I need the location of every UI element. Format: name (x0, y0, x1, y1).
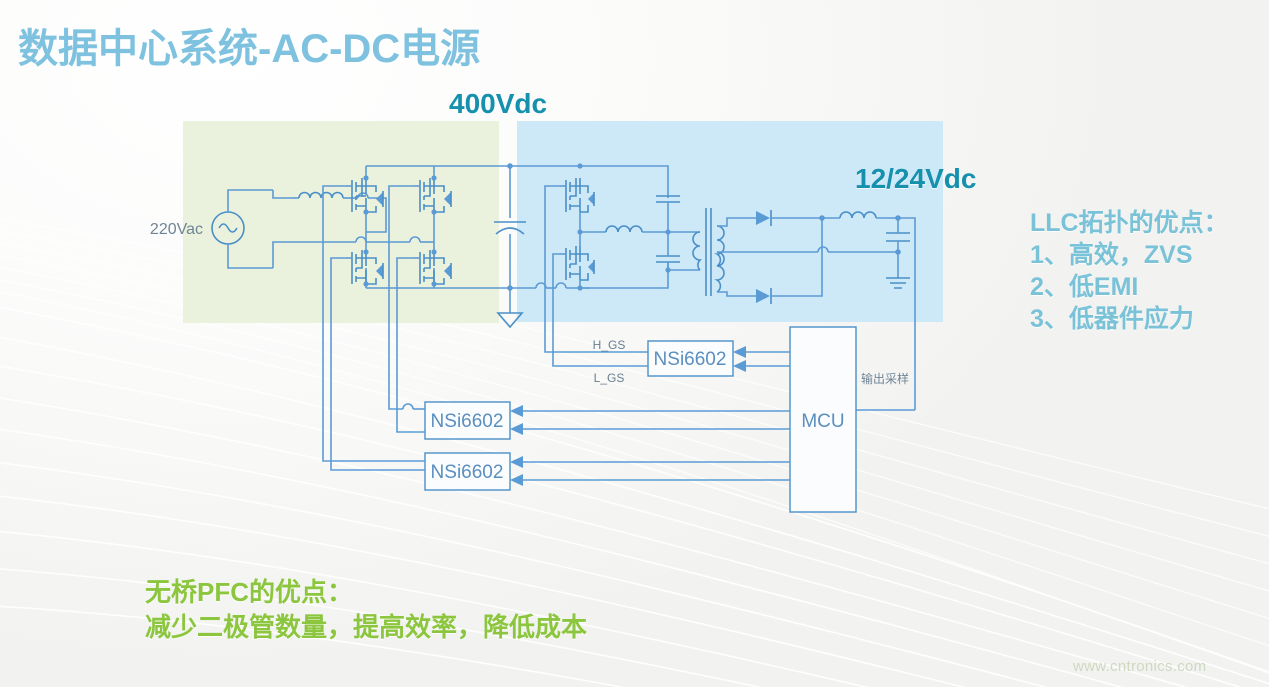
bus-voltage-label: 400Vdc (449, 88, 547, 120)
llc-stage-panel (517, 121, 943, 322)
mcu-to-llc-driver-signals (733, 346, 790, 372)
nsi6602-llc-label: NSi6602 (654, 349, 727, 370)
pfc-advantages-block: 无桥PFC的优点： 减少二极管数量，提高效率，降低成本 (145, 575, 587, 644)
nsi6602-pfc-2-label: NSi6602 (431, 462, 504, 483)
pfc-advantages-body: 减少二极管数量，提高效率，降低成本 (145, 610, 587, 645)
output-voltage-label: 12/24Vdc (855, 163, 976, 195)
llc-advantage-item-3: 3、低器件应力 (1030, 303, 1229, 335)
pfc-advantages-heading: 无桥PFC的优点： (145, 575, 587, 610)
pfc-stage-panel (183, 121, 499, 323)
mcu-to-pfc-driver-2-signals (510, 456, 790, 486)
llc-advantage-item-1: 1、高效，ZVS (1030, 239, 1229, 271)
nsi6602-pfc-1-label: NSi6602 (431, 411, 504, 432)
mcu-label: MCU (801, 411, 844, 432)
page-title: 数据中心系统-AC-DC电源 (18, 16, 480, 74)
ac-input-label: 220Vac (150, 221, 203, 238)
site-watermark: www.cntronics.com (1073, 658, 1206, 675)
output-sense-label: 输出采样 (861, 371, 909, 386)
llc-advantages-heading: LLC拓扑的优点： (1030, 207, 1229, 239)
l-gs-pin-label: L_GS (594, 371, 625, 385)
llc-advantages-block: LLC拓扑的优点： 1、高效，ZVS 2、低EMI 3、低器件应力 (1030, 207, 1229, 335)
slide-canvas: MCU 输出采样 NSi6602 H_GS L_GS NSi6602 (0, 0, 1269, 687)
mcu-to-pfc-driver-1-signals (510, 405, 790, 435)
h-gs-pin-label: H_GS (593, 338, 626, 352)
llc-advantage-item-2: 2、低EMI (1030, 271, 1229, 303)
